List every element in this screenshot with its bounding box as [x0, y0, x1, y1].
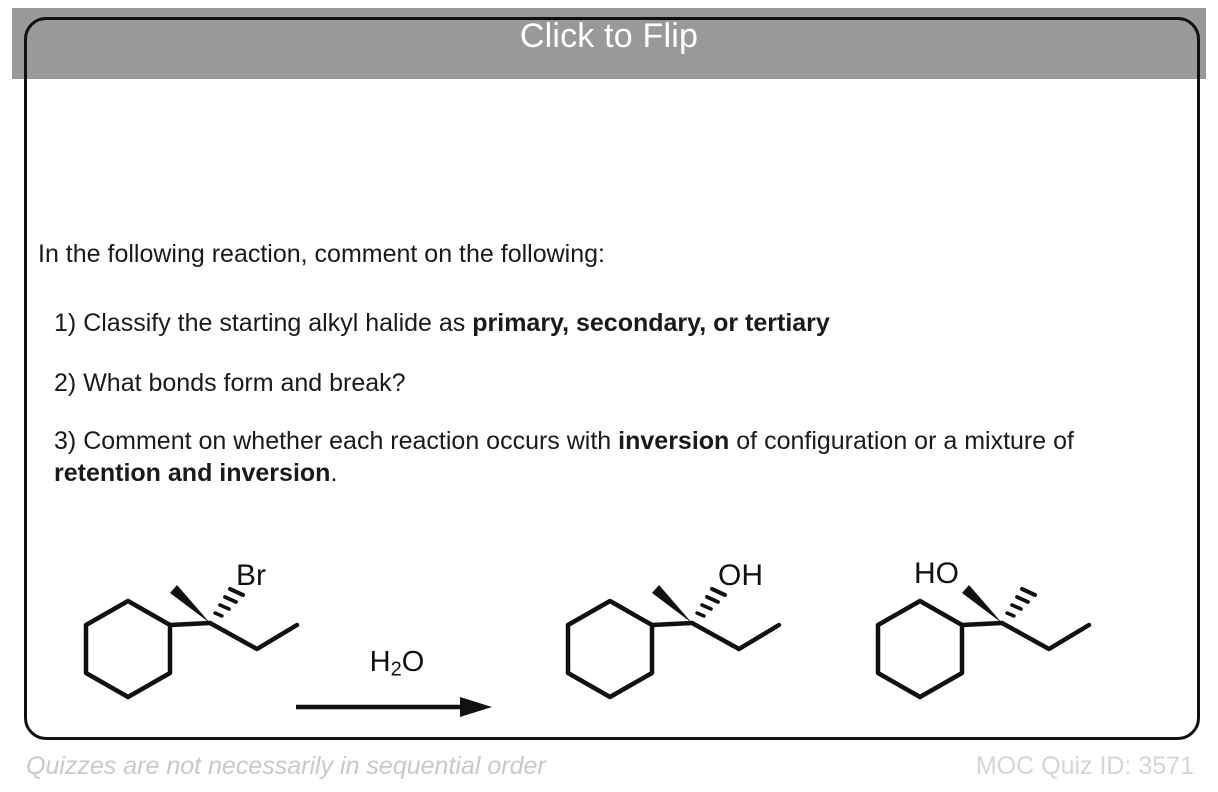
hydroxyl-label: OH [718, 561, 763, 591]
bold-wedge-methyl [170, 585, 210, 623]
cyclohexane-ring [568, 601, 652, 697]
reagent-o: O [402, 646, 425, 678]
footer-note: Quizzes are not necessarily in sequentia… [26, 752, 546, 781]
q3-number: 3) [54, 427, 83, 455]
cyclohexane-ring [86, 601, 170, 697]
reaction-arrow-group: H2O [292, 585, 502, 705]
q3-run-4: . [330, 459, 337, 487]
q3-run-3: retention and inversion [54, 459, 330, 487]
question-item-1: 1) Classify the starting alkyl halide as… [54, 307, 830, 339]
hashed-wedge-methyl [1007, 589, 1035, 616]
ring-to-stereocenter-bond [962, 623, 1002, 625]
ring-to-stereocenter-bond [652, 623, 692, 625]
q2-run-0: What bonds form and break? [83, 369, 405, 397]
ethyl-chain [1002, 623, 1089, 649]
structure-product-2: HO [830, 537, 1130, 737]
hashed-wedge-bromine [215, 589, 243, 616]
reaction-scheme: Br H2O [24, 537, 1200, 737]
bold-wedge-methyl [652, 585, 692, 623]
footer-quiz-id: MOC Quiz ID: 3571 [976, 752, 1194, 781]
q1-run-1: primary, secondary, or tertiary [472, 309, 830, 337]
bromine-label: Br [236, 561, 266, 591]
structure-product-1: OH [520, 537, 820, 737]
ethyl-chain [210, 623, 297, 649]
question-item-2: 2) What bonds form and break? [54, 367, 406, 399]
reagent-subscript: 2 [391, 658, 402, 680]
question-intro: In the following reaction, comment on th… [38, 239, 605, 269]
cyclohexane-ring [878, 601, 962, 697]
q2-number: 2) [54, 369, 83, 397]
ethyl-chain [692, 623, 779, 649]
reagent-h: H [370, 646, 391, 678]
q3-run-1: inversion [618, 427, 729, 455]
question-item-3: 3) Comment on whether each reaction occu… [54, 425, 1144, 489]
ring-to-stereocenter-bond [170, 623, 210, 625]
reagent-label: H2O [292, 647, 502, 684]
q1-number: 1) [54, 309, 83, 337]
q3-run-2: of configuration or a mixture of [729, 427, 1074, 455]
reaction-arrow [292, 693, 502, 733]
card-content: In the following reaction, comment on th… [24, 17, 1200, 740]
q3-run-0: Comment on whether each reaction occurs … [83, 427, 618, 455]
bold-wedge-hydroxyl [962, 585, 1002, 623]
hydroxyl-label: HO [914, 559, 959, 589]
q1-run-0: Classify the starting alkyl halide as [83, 309, 472, 337]
hashed-wedge-hydroxyl [697, 589, 725, 616]
